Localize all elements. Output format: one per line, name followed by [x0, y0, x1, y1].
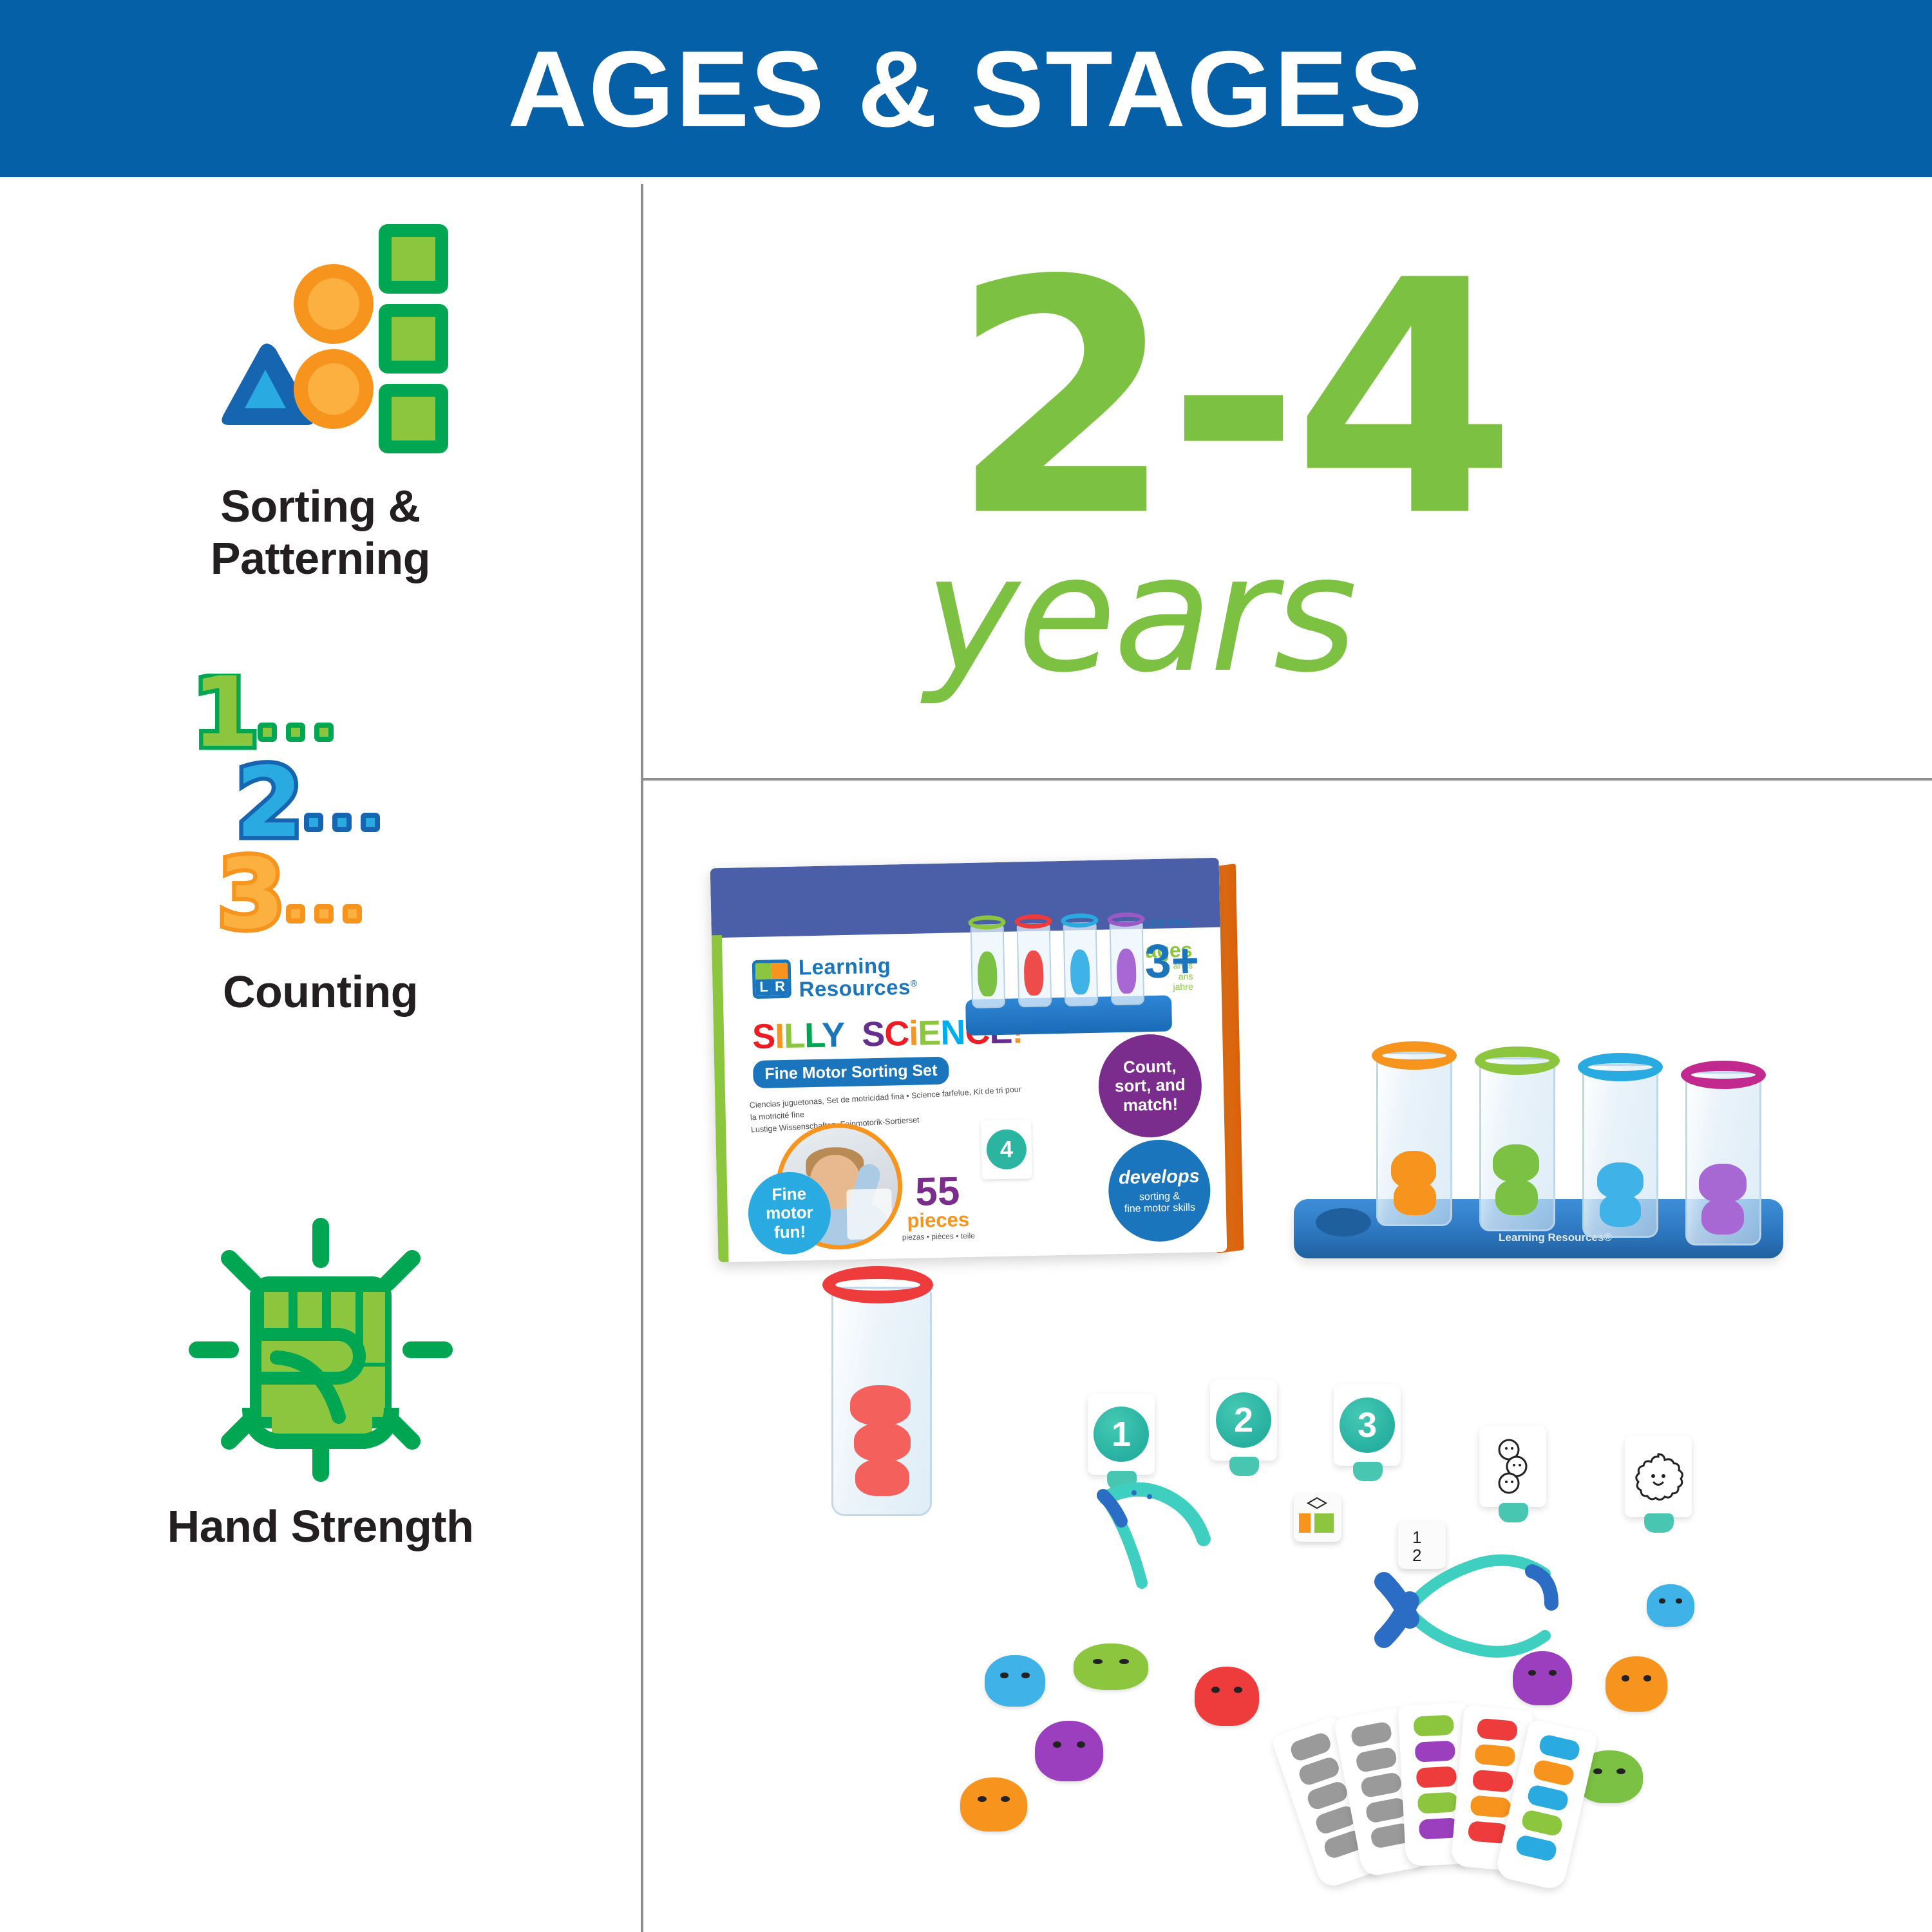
skill-label-counting: Counting: [0, 966, 641, 1018]
package-number-card-4: 4: [981, 1119, 1032, 1180]
skills-column: Sorting &Patterning 1 1 2 2: [0, 184, 641, 1932]
age-range-panel: 2-4 years: [643, 184, 1932, 778]
package-front-face: LER 5542 LR LearningResources® SILLY SCi…: [710, 858, 1227, 1262]
front-tube-red: [831, 1287, 932, 1516]
skill-item-counting: 1 1 2 2 3: [0, 674, 641, 1018]
pieces-word: pieces: [902, 1209, 975, 1231]
product-photo-panel: LER 5542 LR LearningResources® SILLY SCi…: [643, 781, 1932, 1932]
skill-label-hand-strength: Hand Strength: [0, 1501, 641, 1553]
cloud-creature-icon: [1632, 1450, 1685, 1503]
brand-logo: LR LearningResources®: [752, 954, 918, 1001]
tube-blue: [1582, 1064, 1658, 1238]
creature-blue: [985, 1655, 1045, 1707]
age-range-unit: years: [925, 534, 1355, 695]
ages-value: 3+: [1144, 939, 1200, 983]
product-subtitle: Fine Motor Sorting Set: [753, 1057, 949, 1088]
skill-label-sorting-patterning: Sorting &Patterning: [0, 480, 641, 585]
tube-orange: [1376, 1052, 1452, 1226]
shape-card-cloud: [1625, 1436, 1692, 1517]
package-left-stripe: [712, 935, 729, 1262]
creature-blue-small: [1647, 1584, 1694, 1627]
badge-develops-sub: sorting &fine motor skills: [1119, 1190, 1200, 1215]
page-header-banner: AGES & STAGES: [0, 0, 1932, 177]
badge-develops: develops sorting &fine motor skills: [1108, 1139, 1211, 1242]
creature-red: [1195, 1667, 1259, 1726]
tube-magenta: [1685, 1072, 1761, 1245]
fist-strength-icon: [185, 1215, 456, 1485]
creature-green: [1074, 1643, 1148, 1690]
badge-develops-title: develops: [1119, 1166, 1200, 1189]
tube-green: [1479, 1057, 1555, 1231]
page-title: AGES & STAGES: [507, 35, 1424, 143]
badge-count-sort-match: Count,sort, andmatch!: [1097, 1033, 1202, 1138]
svg-text:1: 1: [1412, 1528, 1421, 1547]
package-sku: LER 5542: [1144, 918, 1191, 929]
creature-purple-right: [1513, 1651, 1572, 1705]
tube-rack-product: Learning Resources®: [1294, 1027, 1783, 1258]
age-range-value: 2-4: [951, 267, 1509, 531]
rack-empty-slot: [1316, 1208, 1371, 1236]
tweezers-tool: [1094, 1476, 1236, 1605]
pieces-count-label: 55 pieces piezas • pièces • teile: [901, 1173, 975, 1242]
tongs-tool: [1371, 1546, 1564, 1662]
package-age-grade: ages añosansjahre 3+: [1145, 940, 1193, 993]
numbers-counting-icon: 1 1 2 2 3: [185, 674, 456, 951]
shapes-sorting-icon: [185, 220, 456, 465]
svg-text:3: 3: [218, 838, 285, 951]
number-card-3: 3: [1334, 1385, 1401, 1466]
three-circle-creature-icon: [1490, 1437, 1536, 1496]
skill-item-hand-strength: Hand Strength: [0, 1215, 641, 1553]
skill-item-sorting-patterning: Sorting &Patterning: [0, 220, 641, 585]
color-die: [1294, 1494, 1341, 1542]
creature-orange-front: [960, 1777, 1027, 1832]
front-tube-red-rim: [822, 1266, 933, 1303]
package-top-band: [710, 858, 1220, 938]
brand-name: LearningResources®: [799, 954, 918, 1000]
product-package-box: LER 5542 LR LearningResources® SILLY SCi…: [710, 858, 1227, 1262]
shape-card-three-dots: [1479, 1426, 1546, 1507]
number-card-2: 2: [1210, 1379, 1277, 1461]
pieces-number: 55: [901, 1173, 974, 1211]
number-card-1: 1: [1088, 1394, 1155, 1475]
lr-cube-icon: LR: [752, 959, 791, 998]
pieces-multilingual: piezas • pièces • teile: [902, 1231, 975, 1242]
creature-purple: [1035, 1721, 1103, 1781]
creature-orange-right: [1605, 1656, 1667, 1712]
